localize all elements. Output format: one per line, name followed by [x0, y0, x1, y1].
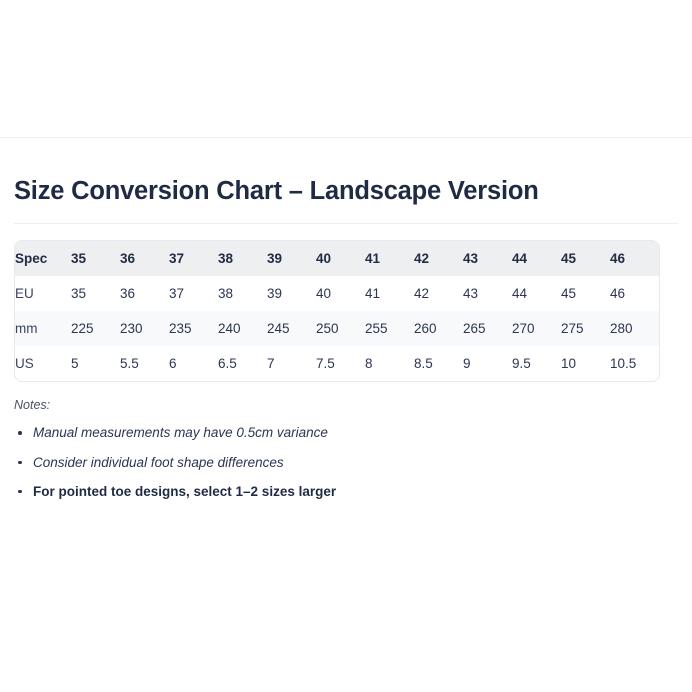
cell-mm-46: 280 [610, 311, 659, 346]
cell-eu-45: 45 [561, 276, 610, 311]
column-header-45: 45 [561, 241, 610, 276]
cell-mm-39: 245 [267, 311, 316, 346]
cell-mm-44: 270 [512, 311, 561, 346]
size-table-card: Spec 35 36 37 38 39 40 41 42 43 44 45 46 [14, 240, 660, 382]
cell-us-44: 9.5 [512, 346, 561, 381]
cell-eu-44: 44 [512, 276, 561, 311]
column-header-37: 37 [169, 241, 218, 276]
cell-us-39: 7 [267, 346, 316, 381]
cell-us-38: 6.5 [218, 346, 267, 381]
cell-eu-46: 46 [610, 276, 659, 311]
title-divider [14, 223, 678, 224]
column-header-46: 46 [610, 241, 659, 276]
table-row-eu: EU 35 36 37 38 39 40 41 42 43 44 45 46 [15, 276, 659, 311]
cell-eu-43: 43 [463, 276, 512, 311]
cell-us-41: 8 [365, 346, 414, 381]
cell-eu-35: 35 [71, 276, 120, 311]
column-header-36: 36 [120, 241, 169, 276]
column-header-41: 41 [365, 241, 414, 276]
table-header: Spec 35 36 37 38 39 40 41 42 43 44 45 46 [15, 241, 659, 276]
cell-us-43: 9 [463, 346, 512, 381]
cell-eu-36: 36 [120, 276, 169, 311]
cell-eu-39: 39 [267, 276, 316, 311]
cell-mm-41: 255 [365, 311, 414, 346]
cell-mm-40: 250 [316, 311, 365, 346]
table-row-mm: mm 225 230 235 240 245 250 255 260 265 2… [15, 311, 659, 346]
cell-eu-38: 38 [218, 276, 267, 311]
cell-eu-40: 40 [316, 276, 365, 311]
column-header-42: 42 [414, 241, 463, 276]
column-header-44: 44 [512, 241, 561, 276]
column-header-43: 43 [463, 241, 512, 276]
row-label-mm: mm [15, 311, 71, 346]
page-title: Size Conversion Chart – Landscape Versio… [14, 138, 678, 206]
cell-mm-36: 230 [120, 311, 169, 346]
cell-mm-43: 265 [463, 311, 512, 346]
notes-label: Notes: [14, 398, 678, 413]
cell-us-37: 6 [169, 346, 218, 381]
table-header-row: Spec 35 36 37 38 39 40 41 42 43 44 45 46 [15, 241, 659, 276]
cell-eu-42: 42 [414, 276, 463, 311]
column-header-38: 38 [218, 241, 267, 276]
column-header-40: 40 [316, 241, 365, 276]
notes-list: Manual measurements may have 0.5cm varia… [14, 425, 678, 500]
row-label-us: US [15, 346, 71, 381]
cell-eu-37: 37 [169, 276, 218, 311]
cell-eu-41: 41 [365, 276, 414, 311]
top-spacer [0, 0, 692, 137]
column-header-35: 35 [71, 241, 120, 276]
cell-mm-37: 235 [169, 311, 218, 346]
cell-us-40: 7.5 [316, 346, 365, 381]
cell-mm-45: 275 [561, 311, 610, 346]
column-header-39: 39 [267, 241, 316, 276]
cell-us-46: 10.5 [610, 346, 659, 381]
cell-mm-35: 225 [71, 311, 120, 346]
cell-us-36: 5.5 [120, 346, 169, 381]
table-body: EU 35 36 37 38 39 40 41 42 43 44 45 46 [15, 276, 659, 381]
cell-us-45: 10 [561, 346, 610, 381]
note-item-pointed-toe: For pointed toe designs, select 1–2 size… [14, 484, 678, 500]
size-conversion-table: Spec 35 36 37 38 39 40 41 42 43 44 45 46 [15, 241, 659, 381]
page-root: Size Conversion Chart – Landscape Versio… [0, 0, 692, 692]
cell-us-35: 5 [71, 346, 120, 381]
note-item-variance: Manual measurements may have 0.5cm varia… [14, 425, 678, 441]
cell-mm-38: 240 [218, 311, 267, 346]
row-label-eu: EU [15, 276, 71, 311]
cell-us-42: 8.5 [414, 346, 463, 381]
table-row-us: US 5 5.5 6 6.5 7 7.5 8 8.5 9 9.5 10 10.5 [15, 346, 659, 381]
note-item-foot-shape: Consider individual foot shape differenc… [14, 455, 678, 471]
content-area: Size Conversion Chart – Landscape Versio… [0, 138, 692, 500]
column-header-spec: Spec [15, 241, 71, 276]
cell-mm-42: 260 [414, 311, 463, 346]
